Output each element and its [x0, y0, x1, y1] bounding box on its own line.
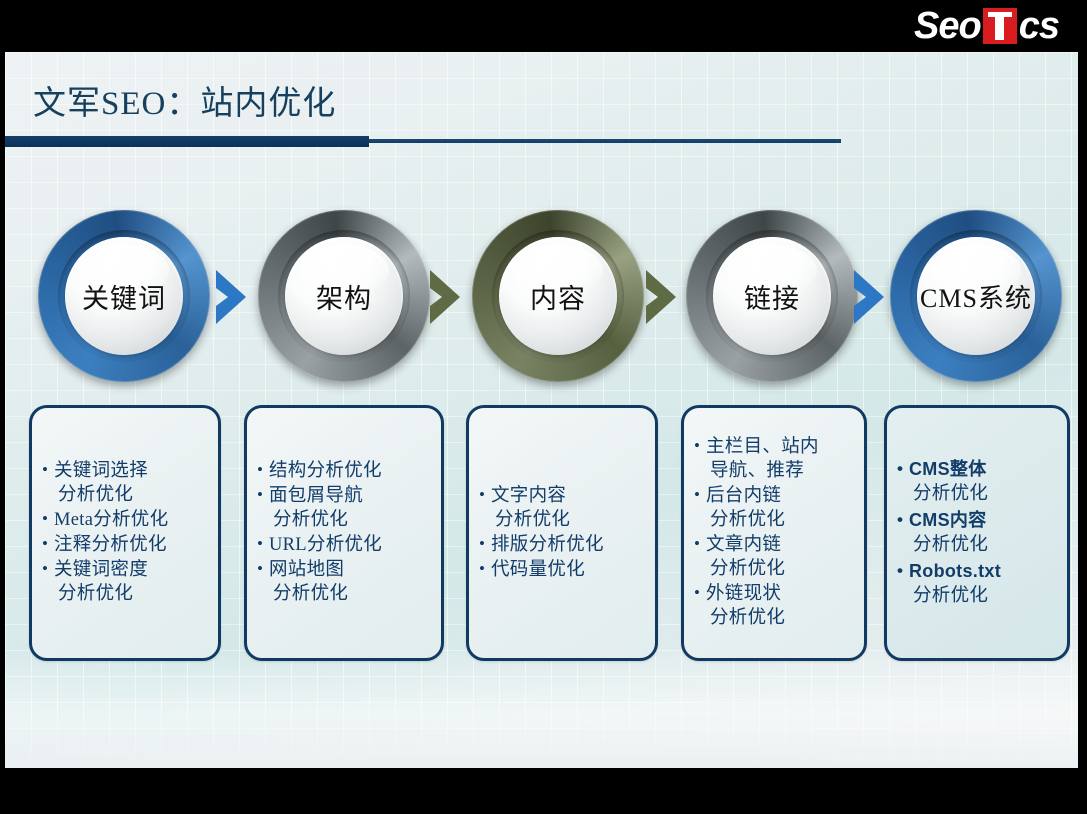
- frame-top: [0, 0, 1087, 5]
- bullet-list: 关键词选择分析优化 Meta分析优化 注释分析优化 关键词密度分析优化: [32, 459, 218, 607]
- chevron-right-icon-2: [428, 266, 468, 328]
- frame-right: [1078, 0, 1087, 814]
- circle-inner: 架构: [285, 237, 403, 355]
- list-item: 文章内链分析优化: [694, 533, 856, 581]
- list-item-main: 外链现状: [706, 584, 781, 604]
- list-item-cont: 分析优化: [909, 482, 1059, 507]
- list-item-cont: 分析优化: [706, 508, 856, 532]
- title-rule-thick: [5, 136, 369, 147]
- frame-bottom: [0, 768, 1087, 814]
- list-item-main: Meta分析优化: [54, 510, 168, 530]
- list-item-main: 代码量优化: [491, 560, 585, 580]
- slide-title: 文军SEO：站内优化: [33, 76, 336, 124]
- list-item: Robots.txt分析优化: [897, 559, 1059, 609]
- list-item-main: URL分析优化: [269, 535, 382, 555]
- list-item: 关键词选择分析优化: [42, 459, 210, 507]
- cms-box[interactable]: CMS整体分析优化 CMS内容分析优化 Robots.txt分析优化: [884, 405, 1070, 661]
- logo-text-prefix: Seo: [914, 5, 981, 48]
- list-item: 排版分析优化: [479, 533, 647, 557]
- list-item-cont: 分析优化: [909, 533, 1059, 558]
- list-item-main: 结构分析优化: [269, 461, 382, 481]
- list-item-main: 网站地图: [269, 560, 344, 580]
- list-item: URL分析优化: [257, 533, 433, 557]
- seotics-logo: Seo cs: [914, 4, 1059, 48]
- list-item: CMS内容分析优化: [897, 508, 1059, 558]
- list-item: 注释分析优化: [42, 533, 210, 557]
- list-item: 网站地图分析优化: [257, 558, 433, 606]
- flow-step-label: CMS系统: [920, 278, 1032, 315]
- list-item-cont: 分析优化: [909, 584, 1059, 609]
- t-mark-icon: [983, 8, 1017, 44]
- frame-left: [0, 0, 5, 814]
- chevron-right-icon-4: [852, 266, 892, 328]
- list-item: 关键词密度分析优化: [42, 558, 210, 606]
- list-item: 结构分析优化: [257, 459, 433, 483]
- keyword-box[interactable]: 关键词选择分析优化 Meta分析优化 注释分析优化 关键词密度分析优化: [29, 405, 221, 661]
- chevron-right-icon-1: [214, 266, 254, 328]
- list-item-main: Robots.txt: [909, 561, 1001, 581]
- flow-step-label: 关键词: [82, 277, 166, 316]
- list-item-cont: 分析优化: [706, 557, 856, 581]
- circle-inner: 链接: [713, 237, 831, 355]
- flow-step-label: 链接: [744, 277, 800, 316]
- list-item: Meta分析优化: [42, 508, 210, 532]
- list-item: 文字内容分析优化: [479, 484, 647, 532]
- list-item-cont: 分析优化: [54, 582, 210, 606]
- title-rule-thin: [369, 139, 841, 143]
- bullet-list: CMS整体分析优化 CMS内容分析优化 Robots.txt分析优化: [887, 457, 1067, 610]
- list-item-main: CMS内容: [909, 510, 987, 530]
- list-item: 主栏目、站内导航、推荐: [694, 435, 856, 483]
- presentation-slide: Seo cs 文军SEO：站内优化 关键词 架构 内容 链接 C: [0, 0, 1087, 814]
- flow-step-keyword[interactable]: 关键词: [38, 210, 210, 382]
- flow-step-link[interactable]: 链接: [686, 210, 858, 382]
- circle-inner: CMS系统: [917, 237, 1035, 355]
- list-item: 代码量优化: [479, 558, 647, 582]
- list-item-cont: 分析优化: [269, 582, 433, 606]
- flow-step-content[interactable]: 内容: [472, 210, 644, 382]
- list-item: 外链现状分析优化: [694, 582, 856, 630]
- logo-bar: Seo cs: [0, 0, 1087, 52]
- flow-step-cms[interactable]: CMS系统: [890, 210, 1062, 382]
- bullet-list: 结构分析优化 面包屑导航分析优化 URL分析优化 网站地图分析优化: [247, 459, 441, 607]
- list-item-main: 关键词密度: [54, 560, 148, 580]
- list-item-main: 关键词选择: [54, 461, 148, 481]
- content-box[interactable]: 文字内容分析优化 排版分析优化 代码量优化: [466, 405, 658, 661]
- list-item-main: CMS整体: [909, 459, 987, 479]
- bullet-list: 主栏目、站内导航、推荐 后台内链分析优化 文章内链分析优化 外链现状分析优化: [684, 435, 864, 631]
- list-item-cont: 分析优化: [706, 606, 856, 630]
- list-item-main: 后台内链: [706, 486, 781, 506]
- flow-step-label: 内容: [530, 277, 586, 316]
- architecture-box[interactable]: 结构分析优化 面包屑导航分析优化 URL分析优化 网站地图分析优化: [244, 405, 444, 661]
- list-item: 后台内链分析优化: [694, 484, 856, 532]
- list-item: CMS整体分析优化: [897, 457, 1059, 507]
- list-item-main: 面包屑导航: [269, 486, 363, 506]
- list-item-main: 主栏目、站内: [706, 437, 819, 457]
- list-item-cont: 分析优化: [269, 508, 433, 532]
- circle-inner: 关键词: [65, 237, 183, 355]
- circle-inner: 内容: [499, 237, 617, 355]
- list-item-main: 排版分析优化: [491, 535, 604, 555]
- list-item: 面包屑导航分析优化: [257, 484, 433, 532]
- bullet-list: 文字内容分析优化 排版分析优化 代码量优化: [469, 484, 655, 583]
- list-item-cont: 导航、推荐: [706, 459, 856, 483]
- chevron-right-icon-3: [644, 266, 684, 328]
- list-item-cont: 分析优化: [54, 483, 210, 507]
- logo-text-suffix: cs: [1019, 5, 1059, 48]
- list-item-main: 注释分析优化: [54, 535, 167, 555]
- list-item-main: 文章内链: [706, 535, 781, 555]
- flow-step-architecture[interactable]: 架构: [258, 210, 430, 382]
- link-box[interactable]: 主栏目、站内导航、推荐 后台内链分析优化 文章内链分析优化 外链现状分析优化: [681, 405, 867, 661]
- list-item-main: 文字内容: [491, 486, 566, 506]
- list-item-cont: 分析优化: [491, 508, 647, 532]
- flow-step-label: 架构: [316, 277, 372, 316]
